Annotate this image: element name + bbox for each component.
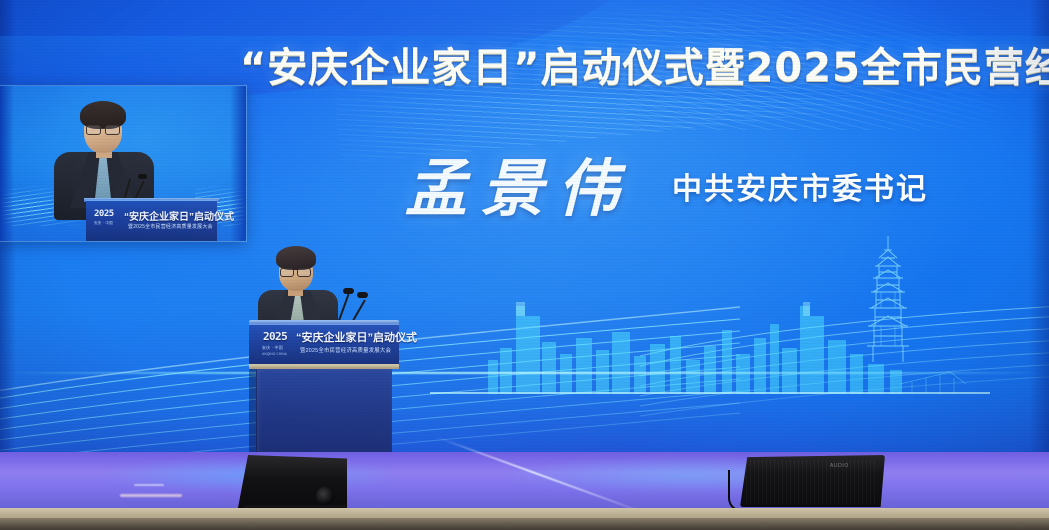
horizon-glow-line xyxy=(0,372,1049,374)
inset-glasses-icon xyxy=(86,125,120,133)
inset-podium-year: 2025 xyxy=(94,209,114,219)
inset-podium: 2025 安庆 · 中国 “安庆企业家日”启动仪式 暨2025全市民营经济高质量… xyxy=(86,200,217,241)
monitor-logo-right: AUDIO xyxy=(830,463,849,469)
monitor-grill-right xyxy=(746,460,878,504)
stage-front-edge-shadow xyxy=(0,518,1049,530)
inset-microphone-head xyxy=(138,174,147,179)
stage-speaker-person xyxy=(252,246,348,330)
conference-stage-screenshot: “安庆企业家日”启动仪式暨2025全市民营经济高质量发展大会 孟景伟 中共安庆市… xyxy=(0,0,1049,530)
monitor-cable-right xyxy=(728,470,752,512)
microphone-head xyxy=(357,292,368,298)
inset-left-shade xyxy=(0,86,14,241)
speaker-name: 孟景伟 xyxy=(405,150,665,228)
podium-year-badge-sub-en: ANQING CHINA xyxy=(262,352,287,356)
microphone-head xyxy=(343,288,354,294)
floor-light-streak xyxy=(134,484,164,486)
inset-podium-headline: “安庆企业家日”启动仪式 xyxy=(124,208,234,223)
speaker-role: 中共安庆市委书记 xyxy=(672,170,928,210)
inset-podium-subline: 暨2025全市民营经济高质量发展大会 xyxy=(128,223,213,230)
podium-year-badge-sub-cn: 安庆 · 中国 xyxy=(262,345,283,351)
podium-year-badge: 2025 xyxy=(263,330,287,343)
podium-subline: 暨2025全市民营经济高质量发展大会 xyxy=(300,346,391,354)
podium-headline: “安庆企业家日”启动仪式 xyxy=(296,329,417,345)
podium-skirt xyxy=(256,369,392,465)
speaker-closeup-inset: 2025 安庆 · 中国 “安庆企业家日”启动仪式 暨2025全市民营经济高质量… xyxy=(0,86,246,241)
glasses-icon xyxy=(280,268,311,275)
page-title: “安庆企业家日”启动仪式暨2025全市民营经济高质量发展大会 xyxy=(240,40,1049,96)
inset-podium-year-sub: 安庆 · 中国 xyxy=(94,221,113,226)
podium-left-shadow xyxy=(249,369,257,465)
floor-light-streak xyxy=(120,494,182,497)
